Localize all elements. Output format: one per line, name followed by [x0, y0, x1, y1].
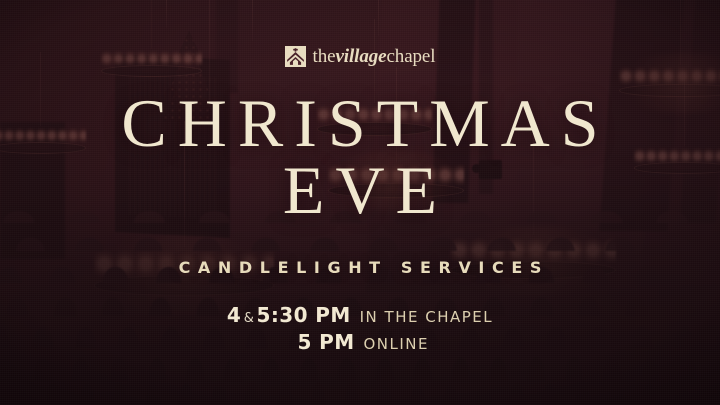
chapel-cross-icon	[285, 46, 306, 67]
logo-word-chapel: chapel	[386, 46, 435, 67]
service-times-list: 4 & 5:30 PM IN THE CHAPEL 5 PM ONLINE	[227, 303, 493, 354]
ampersand-glyph: &	[241, 311, 256, 326]
service-time-row: 4 & 5:30 PM IN THE CHAPEL	[227, 303, 493, 327]
service-location-value: IN THE CHAPEL	[360, 308, 494, 326]
subtitle-candlelight-services: CANDLELIGHT SERVICES	[171, 258, 549, 277]
service-time-first: 4	[227, 303, 241, 327]
title-line-christmas: CHRISTMAS	[110, 91, 609, 156]
service-time-second: 5:30 PM	[257, 303, 351, 327]
service-time-value: 4 & 5:30 PM	[227, 303, 351, 327]
logo-word-the: the	[313, 46, 336, 67]
page-title: CHRISTMAS EVE	[110, 91, 609, 224]
title-line-eve: EVE	[110, 158, 609, 223]
service-time-row: 5 PM ONLINE	[227, 330, 493, 354]
christmas-eve-promo-graphic: thevillagechapel CHRISTMAS EVE CANDLELIG…	[0, 0, 720, 405]
village-chapel-logo: thevillagechapel	[285, 46, 436, 67]
service-time-value: 5 PM	[237, 330, 355, 354]
poster-content: thevillagechapel CHRISTMAS EVE CANDLELIG…	[0, 0, 720, 405]
logo-wordmark: thevillagechapel	[313, 47, 436, 66]
service-location-value: ONLINE	[364, 335, 484, 353]
logo-word-village: village	[335, 46, 386, 67]
